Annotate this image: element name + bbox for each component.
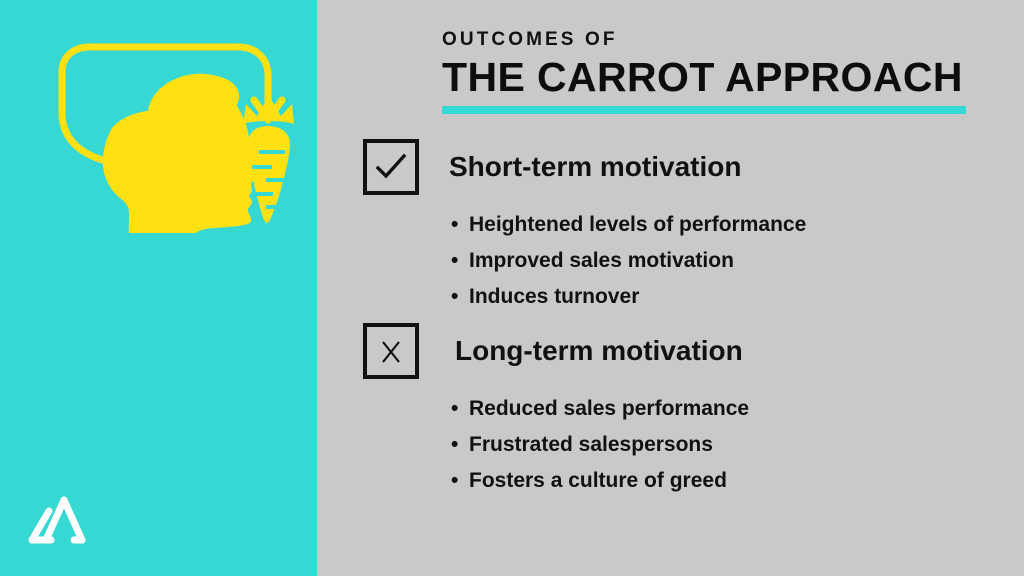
section-title: Long-term motivation: [455, 335, 743, 367]
right-content-panel: OUTCOMES OF THE CARROT APPROACH Short-te…: [317, 0, 1024, 576]
section-long-term-motivation: Long-term motivation •Reduced sales perf…: [363, 323, 749, 499]
list-item: •Frustrated salespersons: [469, 427, 749, 463]
title-underline-rule: [442, 106, 966, 114]
list-item: •Fosters a culture of greed: [469, 463, 749, 499]
bullet-dot-icon: •: [451, 207, 458, 243]
left-teal-panel: [0, 0, 317, 576]
head-with-dangling-carrot-illustration: [40, 28, 310, 233]
section-header: Long-term motivation: [363, 323, 749, 379]
checkbox-x-icon: [363, 323, 419, 379]
slide: OUTCOMES OF THE CARROT APPROACH Short-te…: [0, 0, 1024, 576]
bullet-dot-icon: •: [451, 243, 458, 279]
list-item-label: Improved sales motivation: [469, 249, 734, 272]
bullet-dot-icon: •: [451, 279, 458, 315]
list-item-label: Fosters a culture of greed: [469, 469, 727, 492]
bullet-dot-icon: •: [451, 427, 458, 463]
bullet-dot-icon: •: [451, 391, 458, 427]
section-header: Short-term motivation: [363, 139, 806, 195]
page-title: THE CARROT APPROACH: [442, 55, 966, 99]
kicker-text: OUTCOMES OF: [442, 30, 966, 51]
section-title: Short-term motivation: [449, 151, 741, 183]
list-item-label: Frustrated salespersons: [469, 433, 713, 456]
bullet-list: •Heightened levels of performance •Impro…: [363, 207, 806, 315]
section-short-term-motivation: Short-term motivation •Heightened levels…: [363, 139, 806, 315]
list-item: •Induces turnover: [469, 279, 806, 315]
mountain-monogram-logo: [26, 494, 86, 546]
bullet-list: •Reduced sales performance •Frustrated s…: [363, 391, 749, 499]
list-item: •Heightened levels of performance: [469, 207, 806, 243]
list-item-label: Induces turnover: [469, 285, 639, 308]
list-item: •Improved sales motivation: [469, 243, 806, 279]
checkbox-checked-icon: [363, 139, 419, 195]
list-item-label: Heightened levels of performance: [469, 213, 806, 236]
title-block: OUTCOMES OF THE CARROT APPROACH: [442, 30, 966, 114]
bullet-dot-icon: •: [451, 463, 458, 499]
list-item-label: Reduced sales performance: [469, 397, 749, 420]
list-item: •Reduced sales performance: [469, 391, 749, 427]
